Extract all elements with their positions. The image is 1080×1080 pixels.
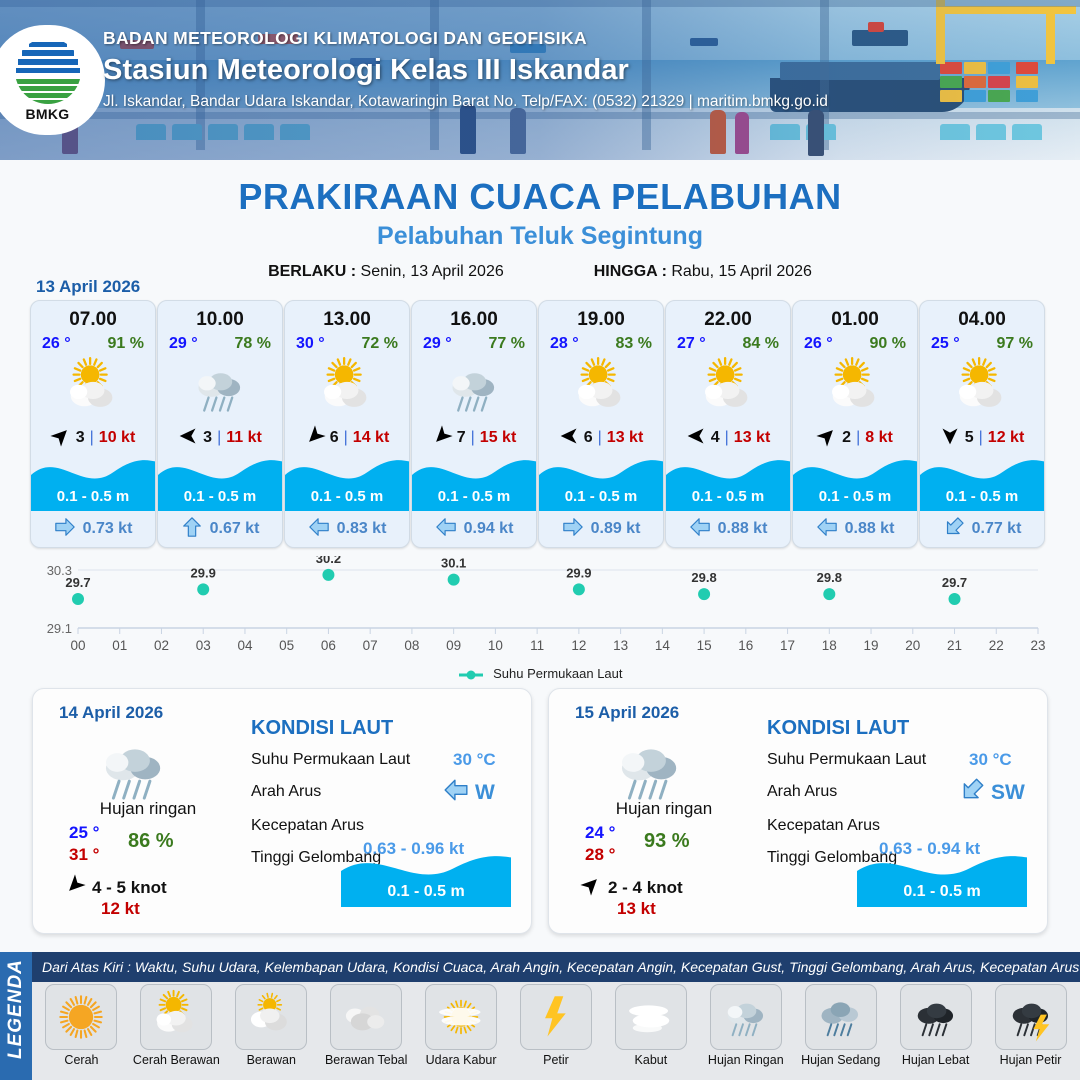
legend-note: Dari Atas Kiri : Waktu, Suhu Udara, Kele… xyxy=(32,952,1080,982)
current-direction-arrow-icon xyxy=(308,516,330,543)
legend-item: Berawan xyxy=(226,984,317,1080)
card-temp-humidity-row: 30 ° 72 % xyxy=(285,331,409,353)
hourly-card[interactable]: 16.00 29 ° 77 % 7 | 15 kt 0.1 - 0.5 m 0.… xyxy=(411,300,537,548)
panel-row-sst-value: 30 °C xyxy=(453,750,496,770)
current-direction-arrow-icon xyxy=(443,777,469,808)
current-speed: 0.94 kt xyxy=(464,520,514,538)
legend-item: Udara Kabur xyxy=(416,984,507,1080)
wind-separator: | xyxy=(856,429,860,447)
panel-temp-min: 24 ° xyxy=(585,823,615,843)
current-speed: 0.88 kt xyxy=(845,520,895,538)
svg-text:19: 19 xyxy=(864,638,879,653)
card-time: 16.00 xyxy=(412,301,536,331)
legend-item-list: Cerah Cerah Berawan Berawan Berawan Teba… xyxy=(32,984,1080,1080)
card-time: 13.00 xyxy=(285,301,409,331)
panel-sea-title: KONDISI LAUT xyxy=(767,717,909,740)
card-temp-humidity-row: 29 ° 78 % xyxy=(158,331,282,353)
card-humidity: 72 % xyxy=(362,335,398,353)
gust-speed: 11 kt xyxy=(226,429,262,447)
card-temperature: 27 ° xyxy=(677,335,706,353)
svg-text:29.9: 29.9 xyxy=(566,565,591,580)
wind-separator: | xyxy=(725,429,729,447)
weather-petir-icon xyxy=(520,984,592,1050)
panel-date: 15 April 2026 xyxy=(575,703,679,723)
wind-speed: 2 xyxy=(842,429,851,447)
legend-item-label: Petir xyxy=(543,1053,569,1067)
panel-row-current-speed-label: Kecepatan Arus xyxy=(767,817,880,835)
panel-temp-max: 28 ° xyxy=(585,845,615,865)
weather-kabut-icon xyxy=(615,984,687,1050)
current-speed: 0.83 kt xyxy=(337,520,387,538)
card-current-row: 0.83 kt xyxy=(285,511,409,547)
agency-name: BADAN METEOROLOGI KLIMATOLOGI DAN GEOFIS… xyxy=(103,28,828,49)
svg-text:01: 01 xyxy=(112,638,127,653)
daily-forecast-panel[interactable]: 14 April 2026 Hujan ringan 25 ° 31 ° 86 … xyxy=(32,688,532,934)
legend-item-label: Udara Kabur xyxy=(426,1053,497,1067)
card-temperature: 30 ° xyxy=(296,335,325,353)
berlaku-value: Senin, 13 April 2026 xyxy=(361,263,504,280)
legend-item-label: Hujan Ringan xyxy=(708,1053,784,1067)
current-direction-arrow-icon xyxy=(181,516,203,543)
wave-height: 0.1 - 0.5 m xyxy=(31,488,155,505)
current-direction-arrow-icon xyxy=(689,516,711,543)
card-temp-humidity-row: 27 ° 84 % xyxy=(666,331,790,353)
wind-speed: 3 xyxy=(76,429,85,447)
card-time: 04.00 xyxy=(920,301,1044,331)
weather-cerah-berawan-icon xyxy=(920,355,1044,423)
hourly-date-label: 13 April 2026 xyxy=(36,277,140,297)
card-temperature: 25 ° xyxy=(931,335,960,353)
station-name: Stasiun Meteorologi Kelas III Iskandar xyxy=(103,54,828,87)
hourly-card[interactable]: 01.00 26 ° 90 % 2 | 8 kt 0.1 - 0.5 m 0.8… xyxy=(792,300,918,548)
current-speed: 0.88 kt xyxy=(718,520,768,538)
card-temp-humidity-row: 28 ° 83 % xyxy=(539,331,663,353)
legend-item: Cerah xyxy=(36,984,127,1080)
page-title: PRAKIRAAN CUACA PELABUHAN xyxy=(0,176,1080,218)
panel-row-current-speed-label: Kecepatan Arus xyxy=(251,817,364,835)
hingga-group: HINGGA : Rabu, 15 April 2026 xyxy=(594,263,812,281)
svg-text:29.8: 29.8 xyxy=(817,570,842,585)
card-humidity: 90 % xyxy=(870,335,906,353)
current-speed: 0.73 kt xyxy=(83,520,133,538)
weather-cerah-berawan-icon xyxy=(666,355,790,423)
page-header: BMKG BADAN METEOROLOGI KLIMATOLOGI DAN G… xyxy=(0,0,1080,160)
svg-text:15: 15 xyxy=(697,638,712,653)
station-address: Jl. Iskandar, Bandar Udara Iskandar, Kot… xyxy=(103,93,828,111)
hingga-label: HINGGA : xyxy=(594,263,667,280)
card-time: 01.00 xyxy=(793,301,917,331)
svg-text:07: 07 xyxy=(363,638,378,653)
header-text-block: BADAN METEOROLOGI KLIMATOLOGI DAN GEOFIS… xyxy=(103,28,828,111)
card-temperature: 29 ° xyxy=(423,335,452,353)
card-current-row: 0.77 kt xyxy=(920,511,1044,547)
legend-section: LEGENDA Dari Atas Kiri : Waktu, Suhu Uda… xyxy=(0,952,1080,1080)
berlaku-group: BERLAKU : Senin, 13 April 2026 xyxy=(268,263,504,281)
gust-speed: 15 kt xyxy=(480,429,516,447)
svg-text:22: 22 xyxy=(989,638,1004,653)
wind-speed: 7 xyxy=(457,429,466,447)
chart-legend-swatch-icon xyxy=(458,669,484,681)
svg-text:05: 05 xyxy=(279,638,294,653)
weather-cerah-berawan-icon xyxy=(140,984,212,1050)
svg-text:02: 02 xyxy=(154,638,169,653)
card-temperature: 26 ° xyxy=(804,335,833,353)
card-current-row: 0.94 kt xyxy=(412,511,536,547)
panel-sea-title: KONDISI LAUT xyxy=(251,717,393,740)
weather-hujan-ringan-icon xyxy=(412,355,536,423)
panel-row-current-dir-label: Arah Arus xyxy=(767,783,837,801)
svg-text:10: 10 xyxy=(488,638,503,653)
hourly-forecast-strip: 07.00 26 ° 91 % 3 | 10 kt 0.1 - 0.5 m 0.… xyxy=(30,300,1050,548)
svg-text:11: 11 xyxy=(530,638,544,653)
wave-height: 0.1 - 0.5 m xyxy=(539,488,663,505)
panel-row-current-dir-label: Arah Arus xyxy=(251,783,321,801)
current-speed: 0.77 kt xyxy=(972,520,1022,538)
current-direction-arrow-icon xyxy=(959,777,985,808)
panel-condition: Hujan ringan xyxy=(53,799,243,819)
wind-direction-arrow-icon xyxy=(940,426,960,451)
svg-text:06: 06 xyxy=(321,638,336,653)
svg-text:18: 18 xyxy=(822,638,837,653)
bmkg-globe-icon xyxy=(15,38,81,104)
berlaku-label: BERLAKU : xyxy=(268,263,356,280)
wave-height: 0.1 - 0.5 m xyxy=(412,488,536,505)
panel-wave-block: 0.1 - 0.5 m xyxy=(857,847,1027,907)
card-time: 10.00 xyxy=(158,301,282,331)
legend-sidebar: LEGENDA xyxy=(0,952,32,1080)
legend-item: Kabut xyxy=(605,984,696,1080)
panel-current-direction-value: SW xyxy=(991,781,1025,805)
wind-speed: 6 xyxy=(584,429,593,447)
wave-height: 0.1 - 0.5 m xyxy=(666,488,790,505)
panel-humidity: 86 % xyxy=(128,830,174,853)
wind-speed: 6 xyxy=(330,429,339,447)
legend-item-label: Berawan xyxy=(247,1053,296,1067)
current-direction-arrow-icon xyxy=(943,516,965,543)
legend-item-label: Cerah Berawan xyxy=(133,1053,220,1067)
chart-legend: Suhu Permukaan Laut xyxy=(0,666,1080,681)
gust-speed: 10 kt xyxy=(99,429,135,447)
weather-berawan-tebal-icon xyxy=(330,984,402,1050)
legend-item: Cerah Berawan xyxy=(131,984,222,1080)
wind-direction-arrow-icon xyxy=(51,426,71,451)
panel-humidity: 93 % xyxy=(644,830,690,853)
card-current-row: 0.67 kt xyxy=(158,511,282,547)
chart-legend-label: Suhu Permukaan Laut xyxy=(493,666,622,681)
wave-height: 0.1 - 0.5 m xyxy=(285,488,409,505)
panel-current-direction-group: W xyxy=(443,777,495,808)
svg-text:03: 03 xyxy=(196,638,211,653)
legend-item: Petir xyxy=(511,984,602,1080)
wind-direction-arrow-icon xyxy=(817,426,837,451)
current-speed: 0.67 kt xyxy=(210,520,260,538)
sst-chart: 30.329.100010203040506070809101112131415… xyxy=(30,556,1050,681)
page-subtitle: Pelabuhan Teluk Segintung xyxy=(0,222,1080,251)
panel-gust: 12 kt xyxy=(101,899,140,919)
weather-hujan-ringan-icon xyxy=(710,984,782,1050)
svg-text:29.7: 29.7 xyxy=(942,575,967,590)
hingga-value: Rabu, 15 April 2026 xyxy=(671,263,812,280)
panel-row-sst-label: Suhu Permukaan Laut xyxy=(767,751,926,769)
legend-item-label: Kabut xyxy=(635,1053,668,1067)
card-wave-zone: 0.1 - 0.5 m xyxy=(920,449,1044,511)
card-temp-humidity-row: 25 ° 97 % xyxy=(920,331,1044,353)
card-humidity: 77 % xyxy=(489,335,525,353)
legend-item-label: Berawan Tebal xyxy=(325,1053,407,1067)
panel-temp-min: 25 ° xyxy=(69,823,99,843)
card-time: 07.00 xyxy=(31,301,155,331)
hourly-card[interactable]: 22.00 27 ° 84 % 4 | 13 kt 0.1 - 0.5 m 0.… xyxy=(665,300,791,548)
card-time: 19.00 xyxy=(539,301,663,331)
card-humidity: 91 % xyxy=(108,335,144,353)
legend-item: Hujan Ringan xyxy=(700,984,791,1080)
svg-text:29.9: 29.9 xyxy=(191,565,216,580)
validity-row: BERLAKU : Senin, 13 April 2026 HINGGA : … xyxy=(0,263,1080,281)
panel-wave-value: 0.1 - 0.5 m xyxy=(857,883,1027,901)
weather-udara-kabur-icon xyxy=(425,984,497,1050)
svg-text:08: 08 xyxy=(404,638,419,653)
card-temp-humidity-row: 26 ° 90 % xyxy=(793,331,917,353)
gust-speed: 14 kt xyxy=(353,429,389,447)
current-direction-arrow-icon xyxy=(435,516,457,543)
panel-wind-range: 2 - 4 knot xyxy=(608,878,683,898)
panel-row-sst-label: Suhu Permukaan Laut xyxy=(251,751,410,769)
sst-chart-svg: 30.329.100010203040506070809101112131415… xyxy=(30,556,1050,681)
svg-text:04: 04 xyxy=(237,638,253,653)
legend-item-label: Cerah xyxy=(64,1053,98,1067)
card-wave-zone: 0.1 - 0.5 m xyxy=(412,449,536,511)
wind-separator: | xyxy=(598,429,602,447)
panel-date: 14 April 2026 xyxy=(59,703,163,723)
panel-wind-row: 4 - 5 knot xyxy=(65,875,167,900)
wind-direction-arrow-icon xyxy=(686,426,706,451)
panel-condition: Hujan ringan xyxy=(569,799,759,819)
svg-text:16: 16 xyxy=(738,638,753,653)
weather-cerah-berawan-icon xyxy=(539,355,663,423)
svg-text:00: 00 xyxy=(70,638,85,653)
wave-height: 0.1 - 0.5 m xyxy=(158,488,282,505)
card-wave-zone: 0.1 - 0.5 m xyxy=(158,449,282,511)
svg-text:29.8: 29.8 xyxy=(691,570,716,585)
svg-text:14: 14 xyxy=(655,638,671,653)
panel-current-direction-group: SW xyxy=(959,777,1025,808)
panel-wind-range: 4 - 5 knot xyxy=(92,878,167,898)
weather-hujan-ringan-icon xyxy=(158,355,282,423)
svg-text:17: 17 xyxy=(780,638,795,653)
bmkg-logo-text: BMKG xyxy=(9,106,87,122)
wave-height: 0.1 - 0.5 m xyxy=(793,488,917,505)
gust-speed: 12 kt xyxy=(988,429,1024,447)
wind-direction-arrow-icon xyxy=(432,426,452,451)
panel-wave-value: 0.1 - 0.5 m xyxy=(341,883,511,901)
card-time: 22.00 xyxy=(666,301,790,331)
wind-speed: 5 xyxy=(965,429,974,447)
card-temperature: 28 ° xyxy=(550,335,579,353)
weather-cerah-icon xyxy=(45,984,117,1050)
hourly-card[interactable]: 13.00 30 ° 72 % 6 | 14 kt 0.1 - 0.5 m 0.… xyxy=(284,300,410,548)
panel-current-direction-value: W xyxy=(475,781,495,805)
wind-direction-arrow-icon xyxy=(581,875,601,900)
wind-speed: 3 xyxy=(203,429,212,447)
card-humidity: 83 % xyxy=(616,335,652,353)
wind-direction-arrow-icon xyxy=(178,426,198,451)
hourly-card[interactable]: 19.00 28 ° 83 % 6 | 13 kt 0.1 - 0.5 m 0.… xyxy=(538,300,664,548)
daily-forecast-panel[interactable]: 15 April 2026 Hujan ringan 24 ° 28 ° 93 … xyxy=(548,688,1048,934)
svg-text:30.2: 30.2 xyxy=(316,556,341,566)
wind-direction-arrow-icon xyxy=(305,426,325,451)
legend-item-label: Hujan Lebat xyxy=(902,1053,969,1067)
svg-text:21: 21 xyxy=(947,638,962,653)
card-current-row: 0.88 kt xyxy=(793,511,917,547)
gust-speed: 13 kt xyxy=(607,429,643,447)
hourly-card[interactable]: 04.00 25 ° 97 % 5 | 12 kt 0.1 - 0.5 m 0.… xyxy=(919,300,1045,548)
card-temperature: 29 ° xyxy=(169,335,198,353)
weather-berawan-icon xyxy=(235,984,307,1050)
wind-separator: | xyxy=(979,429,983,447)
legend-item: Berawan Tebal xyxy=(321,984,412,1080)
card-humidity: 84 % xyxy=(743,335,779,353)
current-direction-arrow-icon xyxy=(562,516,584,543)
legend-item: Hujan Sedang xyxy=(795,984,886,1080)
svg-text:29.7: 29.7 xyxy=(65,575,90,590)
card-temp-humidity-row: 29 ° 77 % xyxy=(412,331,536,353)
hourly-card[interactable]: 10.00 29 ° 78 % 3 | 11 kt 0.1 - 0.5 m 0.… xyxy=(157,300,283,548)
card-current-row: 0.73 kt xyxy=(31,511,155,547)
wave-height: 0.1 - 0.5 m xyxy=(920,488,1044,505)
svg-text:13: 13 xyxy=(613,638,628,653)
card-humidity: 97 % xyxy=(997,335,1033,353)
wind-separator: | xyxy=(344,429,348,447)
weather-cerah-berawan-icon xyxy=(285,355,409,423)
weather-cerah-berawan-icon xyxy=(31,355,155,423)
wind-separator: | xyxy=(471,429,475,447)
panel-wave-block: 0.1 - 0.5 m xyxy=(341,847,511,907)
gust-speed: 13 kt xyxy=(734,429,770,447)
hourly-card[interactable]: 07.00 26 ° 91 % 3 | 10 kt 0.1 - 0.5 m 0.… xyxy=(30,300,156,548)
card-current-row: 0.88 kt xyxy=(666,511,790,547)
svg-text:20: 20 xyxy=(905,638,920,653)
current-speed: 0.89 kt xyxy=(591,520,641,538)
legend-item-label: Hujan Petir xyxy=(1000,1053,1062,1067)
card-humidity: 78 % xyxy=(235,335,271,353)
bmkg-logo: BMKG xyxy=(0,25,105,135)
wind-speed: 4 xyxy=(711,429,720,447)
current-direction-arrow-icon xyxy=(54,516,76,543)
panel-gust: 13 kt xyxy=(617,899,656,919)
weather-hujan-petir-icon xyxy=(995,984,1067,1050)
card-wave-zone: 0.1 - 0.5 m xyxy=(666,449,790,511)
svg-text:29.1: 29.1 xyxy=(47,621,72,636)
card-wave-zone: 0.1 - 0.5 m xyxy=(793,449,917,511)
panel-temp-max: 31 ° xyxy=(69,845,99,865)
card-temp-humidity-row: 26 ° 91 % xyxy=(31,331,155,353)
gust-speed: 8 kt xyxy=(865,429,893,447)
wind-direction-arrow-icon xyxy=(559,426,579,451)
card-current-row: 0.89 kt xyxy=(539,511,663,547)
wind-separator: | xyxy=(90,429,94,447)
legend-item: Hujan Lebat xyxy=(890,984,981,1080)
card-temperature: 26 ° xyxy=(42,335,71,353)
panel-row-sst-value: 30 °C xyxy=(969,750,1012,770)
current-direction-arrow-icon xyxy=(816,516,838,543)
wind-direction-arrow-icon xyxy=(65,875,85,900)
svg-text:30.1: 30.1 xyxy=(441,556,466,571)
legend-item-label: Hujan Sedang xyxy=(801,1053,880,1067)
panel-wind-row: 2 - 4 knot xyxy=(581,875,683,900)
legend-item: Hujan Petir xyxy=(985,984,1076,1080)
svg-text:09: 09 xyxy=(446,638,461,653)
wind-separator: | xyxy=(217,429,221,447)
card-wave-zone: 0.1 - 0.5 m xyxy=(539,449,663,511)
daily-panels: 14 April 2026 Hujan ringan 25 ° 31 ° 86 … xyxy=(32,688,1048,934)
weather-hujan-lebat-icon xyxy=(900,984,972,1050)
svg-text:12: 12 xyxy=(571,638,586,653)
legend-sidebar-label: LEGENDA xyxy=(5,963,27,1059)
weather-hujan-sedang-icon xyxy=(805,984,877,1050)
svg-text:23: 23 xyxy=(1030,638,1045,653)
card-wave-zone: 0.1 - 0.5 m xyxy=(285,449,409,511)
card-wave-zone: 0.1 - 0.5 m xyxy=(31,449,155,511)
weather-cerah-berawan-icon xyxy=(793,355,917,423)
